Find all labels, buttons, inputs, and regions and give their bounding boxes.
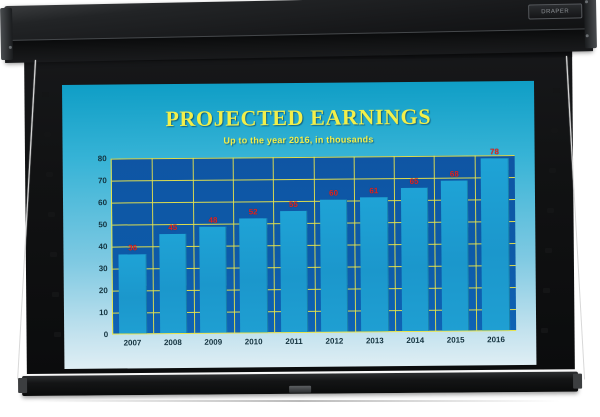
x-axis-tick-label: 2012 (325, 337, 343, 346)
cable-clip (543, 288, 550, 293)
shadow-line (40, 400, 560, 402)
cable-clip (52, 292, 59, 297)
bar: 36 (119, 254, 147, 333)
slide-title: PROJECTED EARNINGS (62, 103, 534, 133)
bar-value-label: 78 (490, 148, 499, 157)
y-axis-tick-label: 80 (98, 154, 107, 163)
y-axis-tick-label: 10 (99, 308, 108, 317)
cable-clip (545, 248, 552, 253)
bar: 55 (280, 211, 308, 332)
y-axis-tick-label: 40 (98, 242, 107, 251)
bar-value-label: 60 (329, 189, 338, 198)
y-axis-tick-label: 30 (99, 264, 108, 273)
bar: 61 (360, 197, 389, 331)
cable-clip (50, 252, 57, 257)
x-axis: 2007200820092010201120122013201420152016 (112, 335, 516, 355)
bottom-bar-endcap-right (573, 374, 582, 389)
cable-clip (54, 332, 61, 337)
bar-value-label: 68 (450, 170, 459, 179)
y-axis: 01020304050607080 (85, 159, 111, 335)
brand-logo: DRAPER (528, 3, 582, 19)
bar-value-label: 36 (128, 243, 137, 252)
x-axis-tick-label: 2016 (487, 335, 505, 344)
cable-clip (553, 88, 560, 93)
x-axis-tick-label: 2013 (366, 336, 384, 345)
cable-clip (42, 92, 49, 97)
screw-icon (585, 0, 588, 3)
bar-value-label: 52 (249, 207, 258, 216)
housing-endcap-left (0, 8, 13, 60)
screw-icon (586, 34, 589, 37)
cable-clip (44, 132, 51, 137)
bar-value-label: 55 (289, 200, 298, 209)
cable-clip (46, 172, 53, 177)
bar: 45 (159, 234, 187, 333)
cable-clip (547, 208, 554, 213)
cable-clip (48, 212, 55, 217)
bottom-bar-pull-tab[interactable] (289, 386, 311, 393)
screenshot-root: DRAPER PROJECTED EARNINGS Up to the year… (0, 0, 600, 417)
housing-endcap-right (584, 0, 597, 48)
screw-icon (9, 46, 12, 49)
y-axis-tick-label: 50 (98, 220, 107, 229)
bar: 65 (400, 188, 429, 331)
x-axis-tick-label: 2010 (245, 337, 263, 346)
x-axis-tick-label: 2007 (124, 338, 142, 347)
x-axis-tick-label: 2009 (204, 338, 222, 347)
plot-area: 36454852556061656878 (111, 155, 517, 335)
y-axis-tick-label: 70 (98, 176, 107, 185)
y-axis-tick-label: 60 (98, 198, 107, 207)
x-axis-tick-label: 2011 (285, 337, 302, 346)
projected-slide: PROJECTED EARNINGS Up to the year 2016, … (62, 81, 536, 369)
bar: 60 (320, 200, 349, 332)
bar: 68 (441, 181, 470, 331)
bar-value-label: 48 (208, 216, 217, 225)
x-axis-tick-label: 2008 (164, 338, 182, 347)
bar-value-label: 45 (168, 223, 177, 232)
x-axis-tick-label: 2014 (406, 336, 424, 345)
bar: 48 (199, 227, 227, 333)
y-axis-tick-label: 0 (104, 330, 109, 339)
screen-bottom-bar (22, 372, 578, 396)
x-axis-tick-label: 2015 (447, 335, 465, 344)
bar-chart: 01020304050607080 36454852556061656878 2… (85, 155, 517, 359)
slide-subtitle: Up to the year 2016, in thousands (62, 133, 534, 147)
bar-value-label: 61 (369, 186, 378, 195)
y-axis-tick-label: 20 (99, 286, 108, 295)
cable-clip (541, 328, 548, 333)
bar: 52 (240, 218, 268, 333)
bar: 78 (481, 159, 510, 331)
screen-housing: DRAPER (4, 0, 593, 62)
cable-clip (549, 168, 556, 173)
cable-clip (551, 128, 558, 133)
bottom-bar-endcap-left (18, 378, 27, 393)
bar-value-label: 65 (410, 177, 419, 186)
